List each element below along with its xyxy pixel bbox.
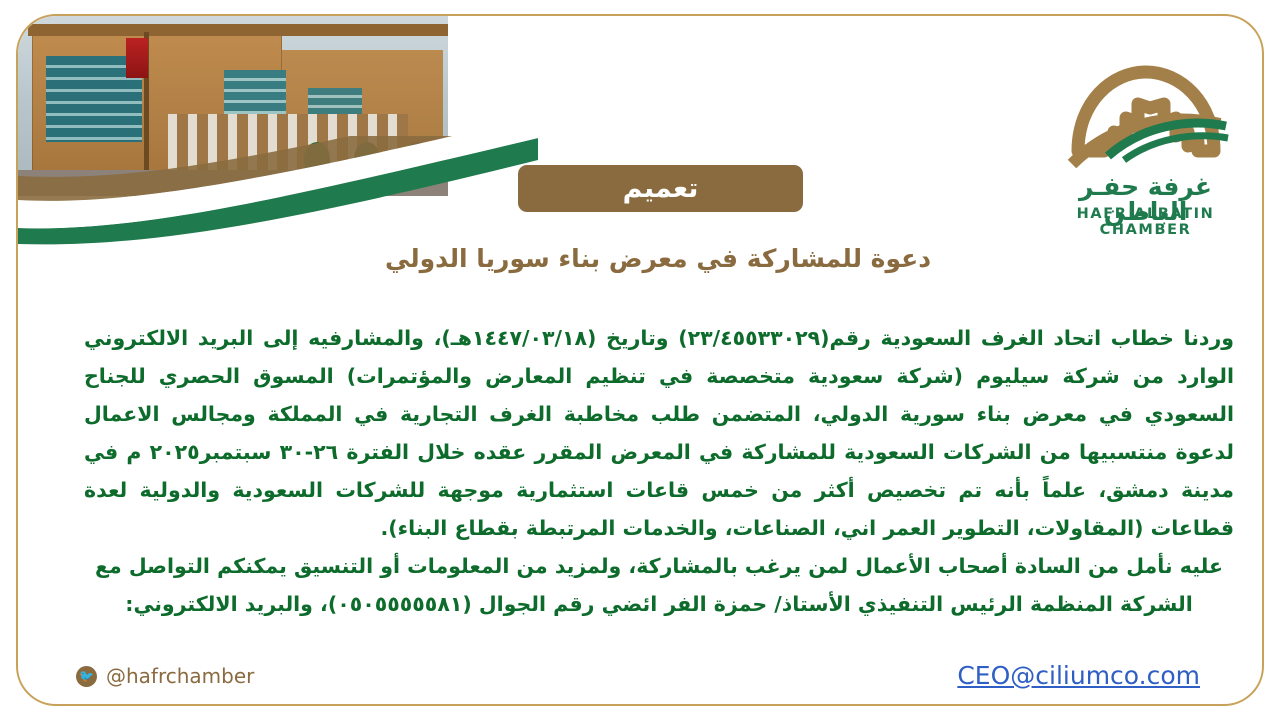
contact-email-link[interactable]: CEO@ciliumco.com <box>957 661 1200 690</box>
chamber-logo: غرفة حفـر الباطن HAFR ALBATIN CHAMBER <box>1038 56 1253 231</box>
logo-mark-icon <box>1038 56 1253 176</box>
decorative-swoosh <box>18 136 538 246</box>
circular-body-text: وردنا خطاب اتحاد الغرف السعودية رقم(٢٣/٤… <box>84 319 1234 623</box>
twitter-handle-label: @hafrchamber <box>106 664 254 688</box>
photo-flag <box>126 38 148 78</box>
circular-type-badge: تعميم <box>518 165 803 212</box>
twitter-account[interactable]: 🐦 @hafrchamber <box>76 664 254 688</box>
page-title: دعوة للمشاركة في معرض بناء سوريا الدولي <box>318 244 998 273</box>
photo-roofline <box>28 24 448 36</box>
body-paragraph-1: وردنا خطاب اتحاد الغرف السعودية رقم(٢٣/٤… <box>84 319 1234 547</box>
body-paragraph-2: عليه نأمل من السادة أصحاب الأعمال لمن ير… <box>84 547 1234 623</box>
twitter-bird-icon: 🐦 <box>76 666 97 687</box>
circular-card: تعميم غرفة حفـر الباطن HAFR ALBATIN CHAM… <box>16 14 1264 706</box>
logo-english-name: HAFR ALBATIN CHAMBER <box>1038 206 1253 238</box>
